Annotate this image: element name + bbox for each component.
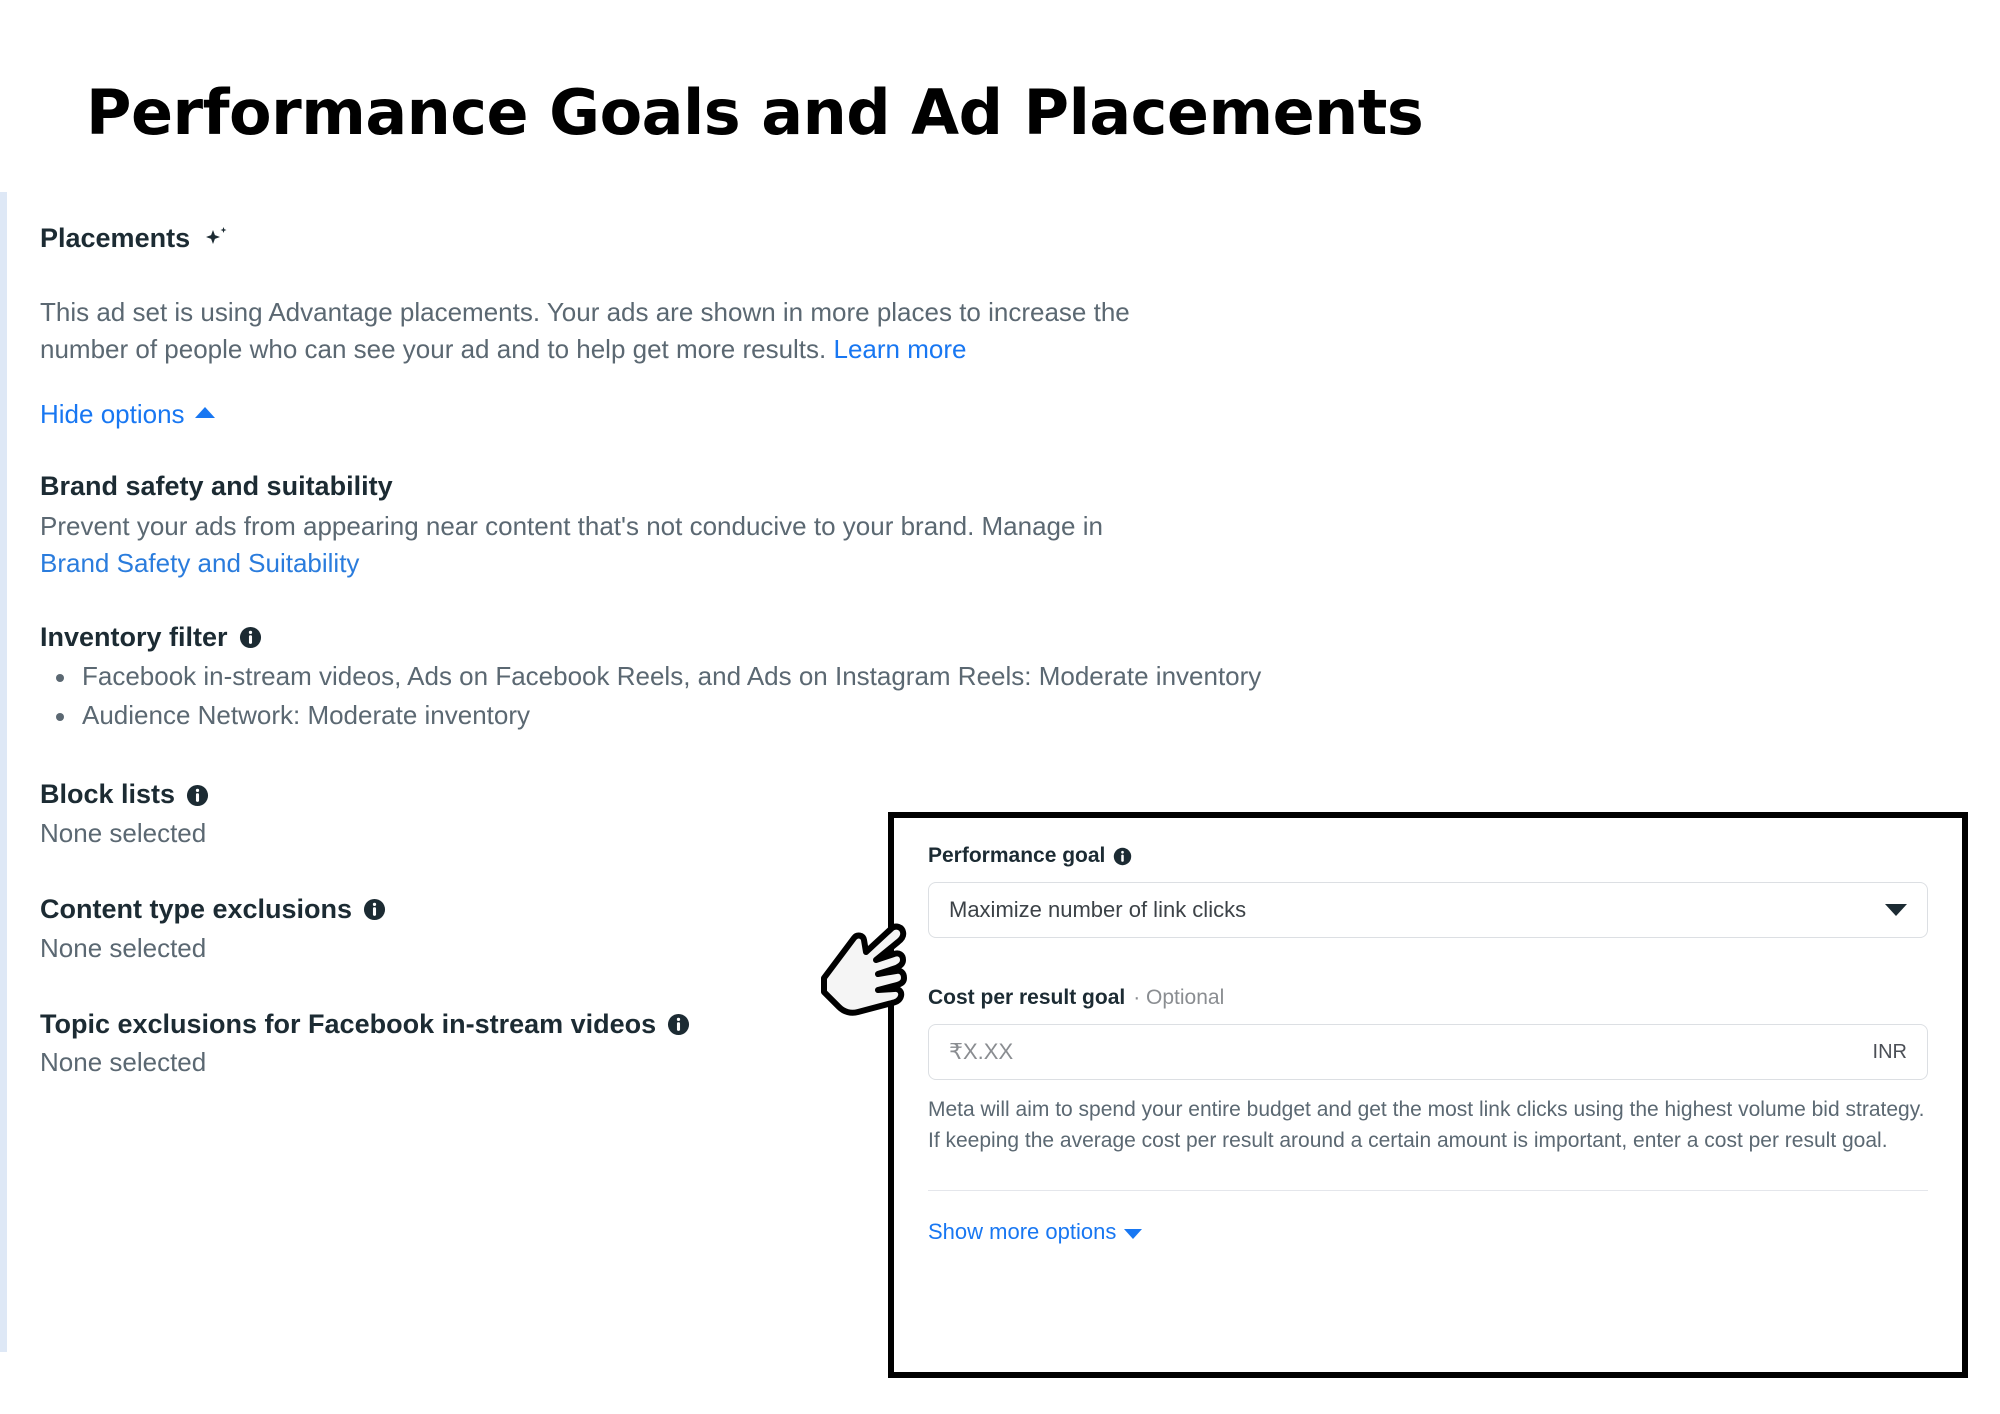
currency-suffix: INR — [1873, 1041, 1907, 1064]
hide-options-toggle[interactable]: Hide options — [40, 399, 215, 430]
placements-heading: Placements — [40, 222, 1460, 256]
brand-safety-heading: Brand safety and suitability — [40, 470, 1460, 504]
performance-goal-select[interactable]: Maximize number of link clicks — [928, 882, 1928, 938]
cost-per-result-label: Cost per result goal · Optional — [928, 986, 1928, 1010]
block-lists-heading: Block lists — [40, 778, 1460, 812]
placements-description-line1: This ad set is using Advantage placement… — [40, 297, 1130, 327]
inventory-filter-heading-label: Inventory filter — [40, 621, 228, 655]
cost-per-result-placeholder: ₹X.XX — [949, 1039, 1873, 1065]
inventory-filter-list: Facebook in-stream videos, Ads on Facebo… — [40, 658, 1460, 734]
info-icon[interactable] — [186, 784, 209, 807]
brand-safety-link[interactable]: Brand Safety and Suitability — [40, 548, 1460, 579]
info-icon[interactable] — [1113, 847, 1132, 866]
list-item: Audience Network: Moderate inventory — [82, 697, 1460, 734]
show-more-options-toggle[interactable]: Show more options — [928, 1219, 1142, 1245]
brand-safety-description: Prevent your ads from appearing near con… — [40, 508, 1200, 546]
performance-goal-label-text: Performance goal — [928, 844, 1105, 868]
list-item: Facebook in-stream videos, Ads on Facebo… — [82, 658, 1460, 695]
placements-heading-label: Placements — [40, 222, 190, 256]
caret-up-icon — [195, 407, 215, 418]
performance-goal-label: Performance goal — [928, 844, 1928, 868]
hide-options-label: Hide options — [40, 399, 185, 430]
learn-more-link[interactable]: Learn more — [834, 334, 967, 364]
placements-description: This ad set is using Advantage placement… — [40, 294, 1180, 369]
info-icon[interactable] — [363, 898, 386, 921]
performance-goal-panel: Performance goal Maximize number of link… — [888, 812, 1968, 1378]
inventory-filter-section: Inventory filter Facebook in-stream vide… — [40, 621, 1460, 735]
caret-down-icon — [1124, 1229, 1142, 1239]
placements-description-line2: number of people who can see your ad and… — [40, 334, 826, 364]
block-lists-heading-label: Block lists — [40, 778, 175, 812]
info-icon[interactable] — [239, 626, 262, 649]
page-title: Performance Goals and Ad Placements — [86, 82, 1423, 144]
show-more-options-label: Show more options — [928, 1219, 1116, 1245]
cost-per-result-optional-suffix: · Optional — [1133, 986, 1224, 1010]
placements-section: Placements This ad set is using Advantag… — [40, 222, 1460, 430]
brand-safety-section: Brand safety and suitability Prevent you… — [40, 470, 1460, 578]
chevron-down-icon — [1885, 904, 1907, 916]
info-icon[interactable] — [667, 1013, 690, 1036]
topic-exclusions-heading-label: Topic exclusions for Facebook in-stream … — [40, 1008, 656, 1042]
content-type-exclusions-heading-label: Content type exclusions — [40, 893, 352, 927]
performance-goal-helper-text: Meta will aim to spend your entire budge… — [928, 1094, 1928, 1156]
panel-divider — [928, 1190, 1928, 1191]
cost-per-result-label-text: Cost per result goal — [928, 986, 1125, 1010]
sparkle-icon — [201, 224, 231, 254]
inventory-filter-heading: Inventory filter — [40, 621, 1460, 655]
cost-per-result-input[interactable]: ₹X.XX INR — [928, 1024, 1928, 1080]
performance-goal-selected-value: Maximize number of link clicks — [949, 897, 1885, 923]
left-accent-rail — [0, 192, 7, 1352]
